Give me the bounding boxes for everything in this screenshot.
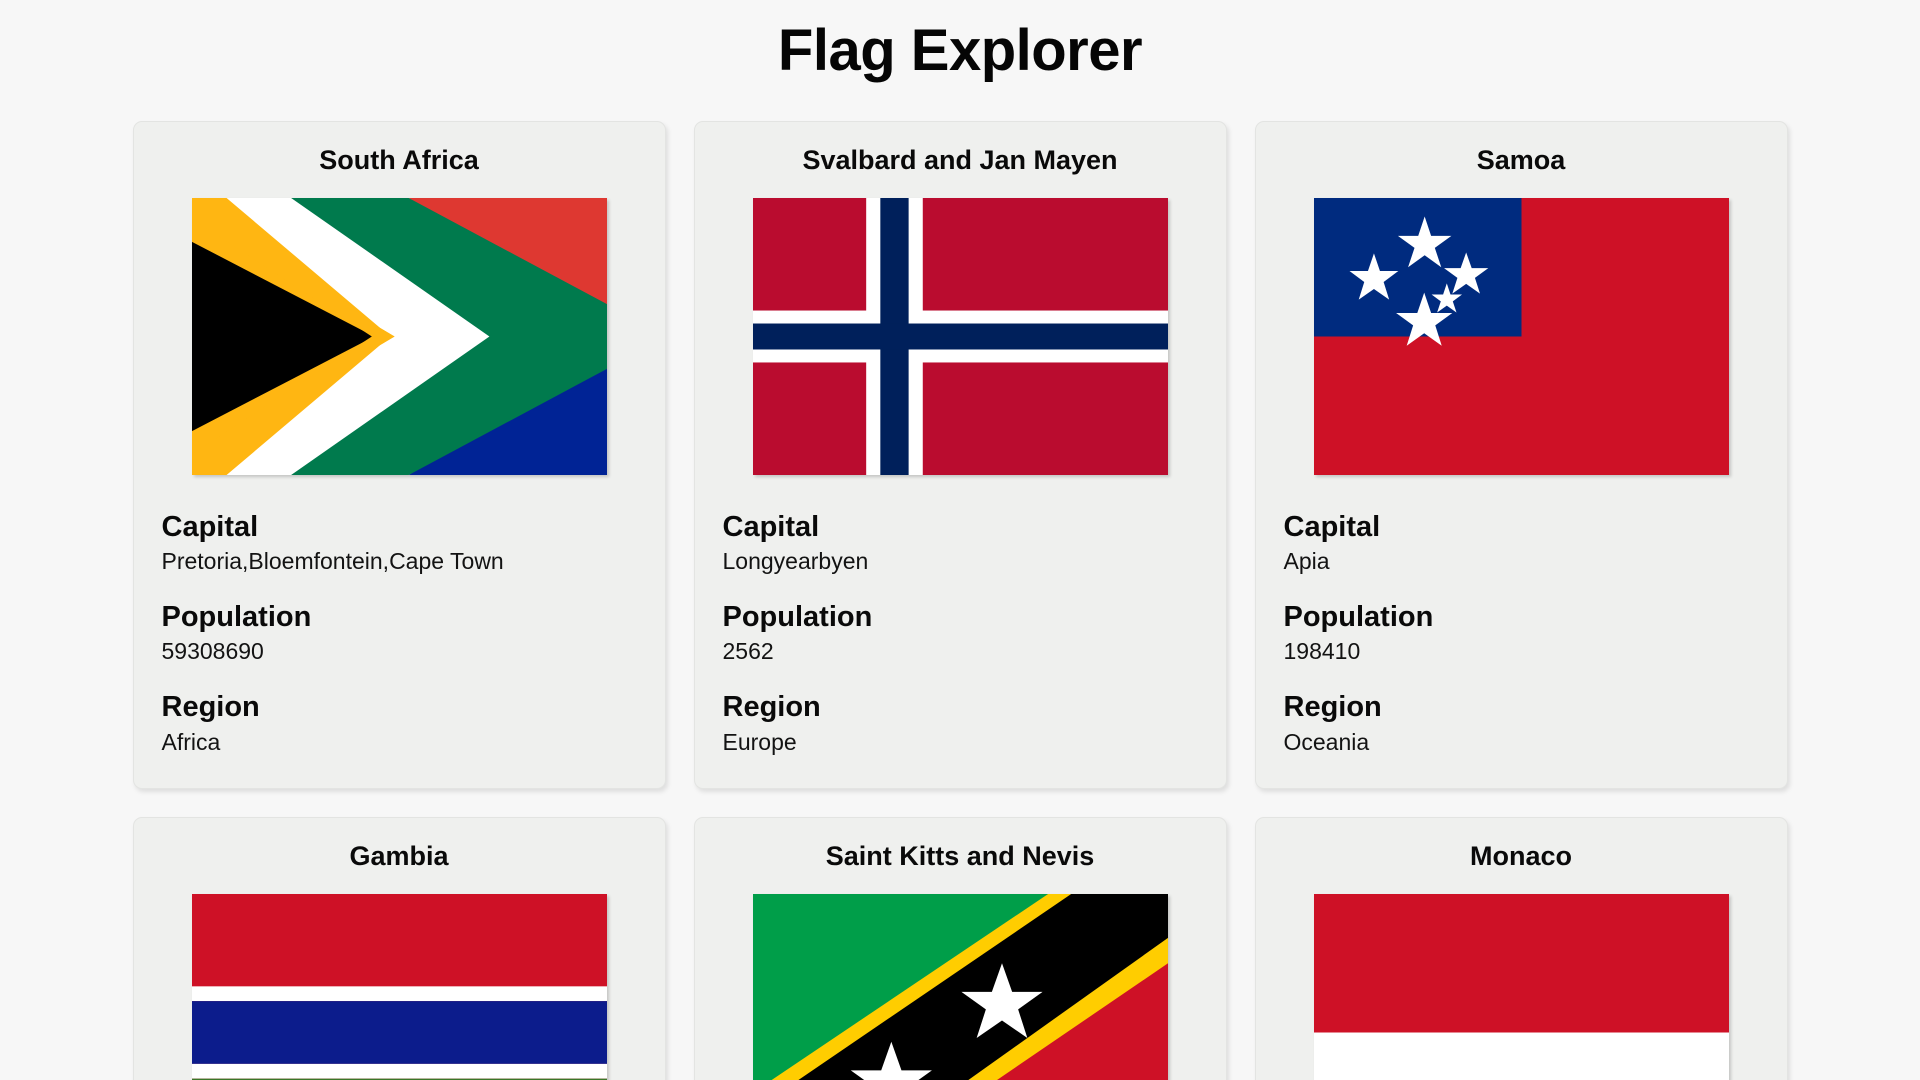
country-name: Samoa [1284,144,1759,176]
flag-saint-kitts-and-nevis-icon [753,894,1168,1080]
capital-label: Capital [162,509,637,545]
region-field: Region Oceania [1284,689,1759,757]
capital-value: Pretoria,Bloemfontein,Cape Town [162,547,637,577]
region-value: Africa [162,728,637,758]
population-label: Population [1284,599,1759,635]
country-card[interactable]: South Africa Capital Pretoria,Bloemfonte… [133,121,666,789]
country-name: Gambia [162,840,637,872]
country-card[interactable]: Saint Kitts and Nevis Capital Basseterre… [694,817,1227,1080]
flag-container [1284,198,1759,475]
capital-value: Apia [1284,547,1759,577]
region-label: Region [1284,689,1759,725]
flag-container [162,198,637,475]
capital-label: Capital [723,509,1198,545]
capital-field: Capital Pretoria,Bloemfontein,Cape Town [162,509,637,577]
capital-field: Capital Apia [1284,509,1759,577]
capital-value: Longyearbyen [723,547,1198,577]
country-name: Saint Kitts and Nevis [723,840,1198,872]
region-label: Region [162,689,637,725]
population-value: 59308690 [162,637,637,667]
capital-label: Capital [1284,509,1759,545]
population-field: Population 2562 [723,599,1198,667]
country-card[interactable]: Svalbard and Jan Mayen Capital Longyearb… [694,121,1227,789]
population-value: 2562 [723,637,1198,667]
country-card[interactable]: Monaco Capital Monaco Population 39244 R… [1255,817,1788,1080]
country-name: Svalbard and Jan Mayen [723,144,1198,176]
region-field: Region Europe [723,689,1198,757]
flag-svalbard-and-jan-mayen-icon [753,198,1168,475]
population-field: Population 198410 [1284,599,1759,667]
country-name: Monaco [1284,840,1759,872]
country-card[interactable]: Samoa Capital Apia Population 198410 [1255,121,1788,789]
page-title: Flag Explorer [0,0,1920,85]
region-value: Oceania [1284,728,1759,758]
flag-south-africa-icon [192,198,607,475]
region-label: Region [723,689,1198,725]
flag-container [723,198,1198,475]
population-field: Population 59308690 [162,599,637,667]
country-name: South Africa [162,144,637,176]
population-label: Population [723,599,1198,635]
flag-samoa-icon [1314,198,1729,475]
flag-gambia-icon [192,894,607,1080]
population-value: 198410 [1284,637,1759,667]
country-card[interactable]: Gambia Capital Banjul Population 2416664… [133,817,666,1080]
flag-card-grid: South Africa Capital Pretoria,Bloemfonte… [0,85,1920,1080]
flag-container [162,894,637,1080]
flag-explorer-page: Flag Explorer South Africa Capital Preto… [0,0,1920,1080]
region-field: Region Africa [162,689,637,757]
region-value: Europe [723,728,1198,758]
flag-monaco-icon [1314,894,1729,1080]
population-label: Population [162,599,637,635]
capital-field: Capital Longyearbyen [723,509,1198,577]
flag-container [1284,894,1759,1080]
flag-container [723,894,1198,1080]
